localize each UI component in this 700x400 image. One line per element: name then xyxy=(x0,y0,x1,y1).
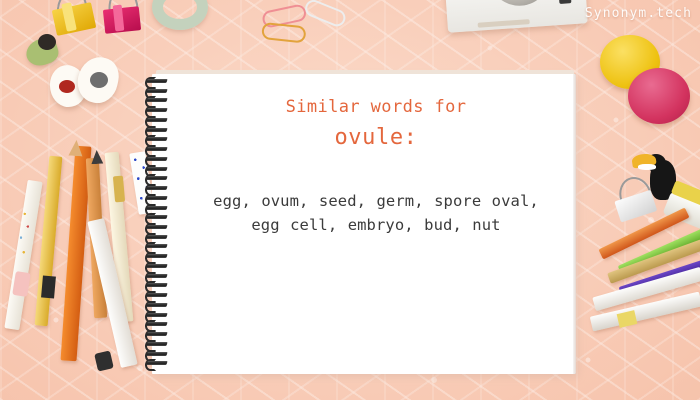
pen-cream-clip xyxy=(113,176,125,203)
spiral-ring xyxy=(145,205,171,211)
spiral-ring xyxy=(145,107,171,113)
spiral-ring xyxy=(145,282,171,288)
pencil-yellow-ferrule xyxy=(41,275,56,298)
spiral-binding xyxy=(145,78,175,370)
spiral-ring xyxy=(145,88,171,94)
spiral-ring xyxy=(145,146,171,152)
synonyms-text: egg, ovum, seed, germ, spore oval, egg c… xyxy=(211,189,541,237)
spiral-ring xyxy=(145,156,171,162)
notebook-page: Similar words for ovule: egg, ovum, seed… xyxy=(152,74,576,374)
spiral-ring xyxy=(145,312,171,318)
spiral-ring xyxy=(145,321,171,327)
notebook: Similar words for ovule: egg, ovum, seed… xyxy=(152,74,576,376)
spiral-ring xyxy=(145,224,171,230)
page-right-edge xyxy=(573,74,576,374)
spiral-ring xyxy=(145,263,171,269)
spiral-ring xyxy=(145,136,171,142)
spiral-ring xyxy=(145,185,171,191)
macaron-pink xyxy=(628,68,690,126)
desk-scene: Similar words for ovule: egg, ovum, seed… xyxy=(0,0,700,400)
spiral-ring xyxy=(145,292,171,298)
spiral-ring xyxy=(145,331,171,337)
binder-clip-pink xyxy=(98,0,150,36)
page-content: Similar words for ovule: egg, ovum, seed… xyxy=(186,74,566,374)
eraser-eggs xyxy=(50,55,122,109)
paper-clip-orange xyxy=(261,22,302,40)
spiral-ring xyxy=(145,273,171,279)
spiral-ring xyxy=(145,360,171,366)
page-title-prefix: Similar words for xyxy=(186,96,566,119)
spiral-ring xyxy=(145,214,171,220)
spiral-ring xyxy=(145,351,171,357)
spiral-ring xyxy=(145,195,171,201)
washi-tape-roll xyxy=(152,0,208,30)
spiral-ring xyxy=(145,166,171,172)
page-title-term: ovule: xyxy=(186,124,566,153)
spiral-ring xyxy=(145,117,171,123)
spiral-ring xyxy=(145,97,171,103)
spiral-ring xyxy=(145,302,171,308)
spiral-ring xyxy=(145,234,171,240)
spiral-ring xyxy=(145,341,171,347)
spiral-ring xyxy=(145,127,171,133)
spiral-ring xyxy=(145,243,171,249)
spiral-ring xyxy=(145,175,171,181)
spiral-ring xyxy=(145,253,171,259)
binder-clip-yellow xyxy=(50,0,102,36)
spiral-ring xyxy=(145,78,171,84)
site-watermark: Synonym.tech xyxy=(585,6,692,21)
